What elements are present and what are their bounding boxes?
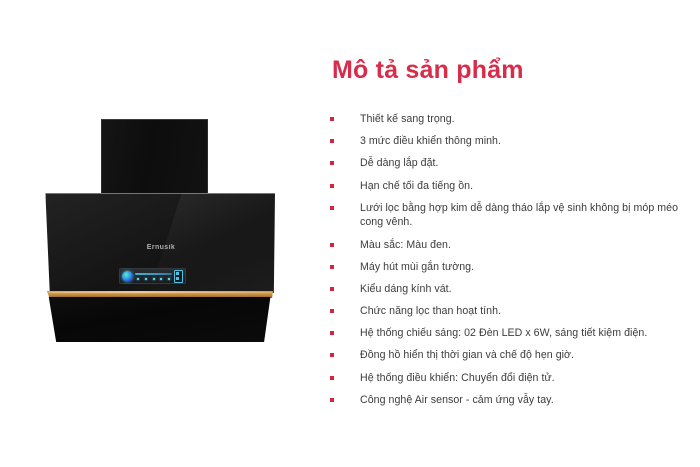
control-panel[interactable] — [119, 268, 186, 284]
list-item-label: Chức năng lọc than hoạt tính. — [360, 304, 700, 319]
description-panel: Mô tả sản phẩm Thiết kế sang trọng.3 mức… — [322, 0, 700, 467]
list-item: Công nghệ Air sensor - cảm ứng vẫy tay. — [322, 393, 700, 408]
list-item: Lưới lọc bằng hợp kim dễ dàng tháo lắp v… — [322, 201, 700, 230]
bullet-icon — [330, 139, 334, 143]
indicator-dot — [145, 278, 147, 280]
product-image-panel: Ernusik — [0, 0, 310, 467]
list-item: Kiểu dáng kính vát. — [322, 282, 700, 297]
indicator-dot — [153, 278, 155, 280]
page-title: Mô tả sản phẩm — [332, 57, 524, 85]
feature-list: Thiết kế sang trọng.3 mức điều khiển thô… — [322, 112, 700, 415]
list-item-label: Máy hút mùi gắn tường. — [360, 260, 700, 275]
list-item: Hệ thống chiếu sáng: 02 Đèn LED x 6W, sá… — [322, 326, 700, 341]
hood-chimney — [101, 119, 208, 194]
timer-display-icon — [174, 270, 183, 283]
list-item: Màu sắc: Màu đen. — [322, 238, 700, 253]
bullet-icon — [330, 117, 334, 121]
list-item: 3 mức điều khiển thông minh. — [322, 134, 700, 149]
list-item: Chức năng lọc than hoạt tính. — [322, 304, 700, 319]
gold-trim-highlight — [45, 291, 273, 293]
list-item-label: Dễ dàng lắp đặt. — [360, 156, 700, 171]
list-item: Đồng hồ hiển thị thời gian và chế độ hẹn… — [322, 348, 700, 363]
bullet-icon — [330, 398, 334, 402]
indicator-dot — [168, 278, 170, 280]
bullet-icon — [330, 265, 334, 269]
list-item-label: Kiểu dáng kính vát. — [360, 282, 700, 297]
range-hood-illustration: Ernusik — [0, 0, 310, 467]
bullet-icon — [330, 287, 334, 291]
list-item-label: Hệ thống chiếu sáng: 02 Đèn LED x 6W, sá… — [360, 326, 700, 341]
bullet-icon — [330, 353, 334, 357]
bullet-icon — [330, 206, 334, 210]
air-sensor-knob-icon[interactable] — [122, 271, 133, 282]
bullet-icon — [330, 376, 334, 380]
control-slider[interactable] — [135, 271, 172, 282]
brand-logo: Ernusik — [140, 242, 182, 253]
indicator-dot — [137, 278, 139, 280]
bullet-icon — [330, 184, 334, 188]
list-item-label: Màu sắc: Màu đen. — [360, 238, 700, 253]
list-item: Hệ thống điều khiển: Chuyển đổi điện tử. — [322, 371, 700, 386]
list-item-label: 3 mức điều khiển thông minh. — [360, 134, 700, 149]
hood-body-left-edge — [45, 193, 46, 293]
list-item-label: Hệ thống điều khiển: Chuyển đổi điện tử. — [360, 371, 700, 386]
indicator-dot — [160, 278, 162, 280]
bullet-icon — [330, 309, 334, 313]
list-item-label: Công nghệ Air sensor - cảm ứng vẫy tay. — [360, 393, 700, 408]
list-item-label: Đồng hồ hiển thị thời gian và chế độ hẹn… — [360, 348, 700, 363]
list-item-label: Lưới lọc bằng hợp kim dễ dàng tháo lắp v… — [360, 201, 700, 230]
hood-body-top-edge — [44, 193, 275, 194]
bullet-icon — [330, 331, 334, 335]
control-indicator-dots — [137, 278, 170, 281]
bullet-icon — [330, 161, 334, 165]
list-item-label: Hạn chế tối đa tiếng ồn. — [360, 179, 700, 194]
list-item: Hạn chế tối đa tiếng ồn. — [322, 179, 700, 194]
list-item: Thiết kế sang trọng. — [322, 112, 700, 127]
list-item: Dễ dàng lắp đặt. — [322, 156, 700, 171]
list-item-label: Thiết kế sang trọng. — [360, 112, 700, 127]
hood-filter-housing — [46, 297, 272, 342]
bullet-icon — [330, 243, 334, 247]
list-item: Máy hút mùi gắn tường. — [322, 260, 700, 275]
control-slider-track — [135, 273, 172, 275]
